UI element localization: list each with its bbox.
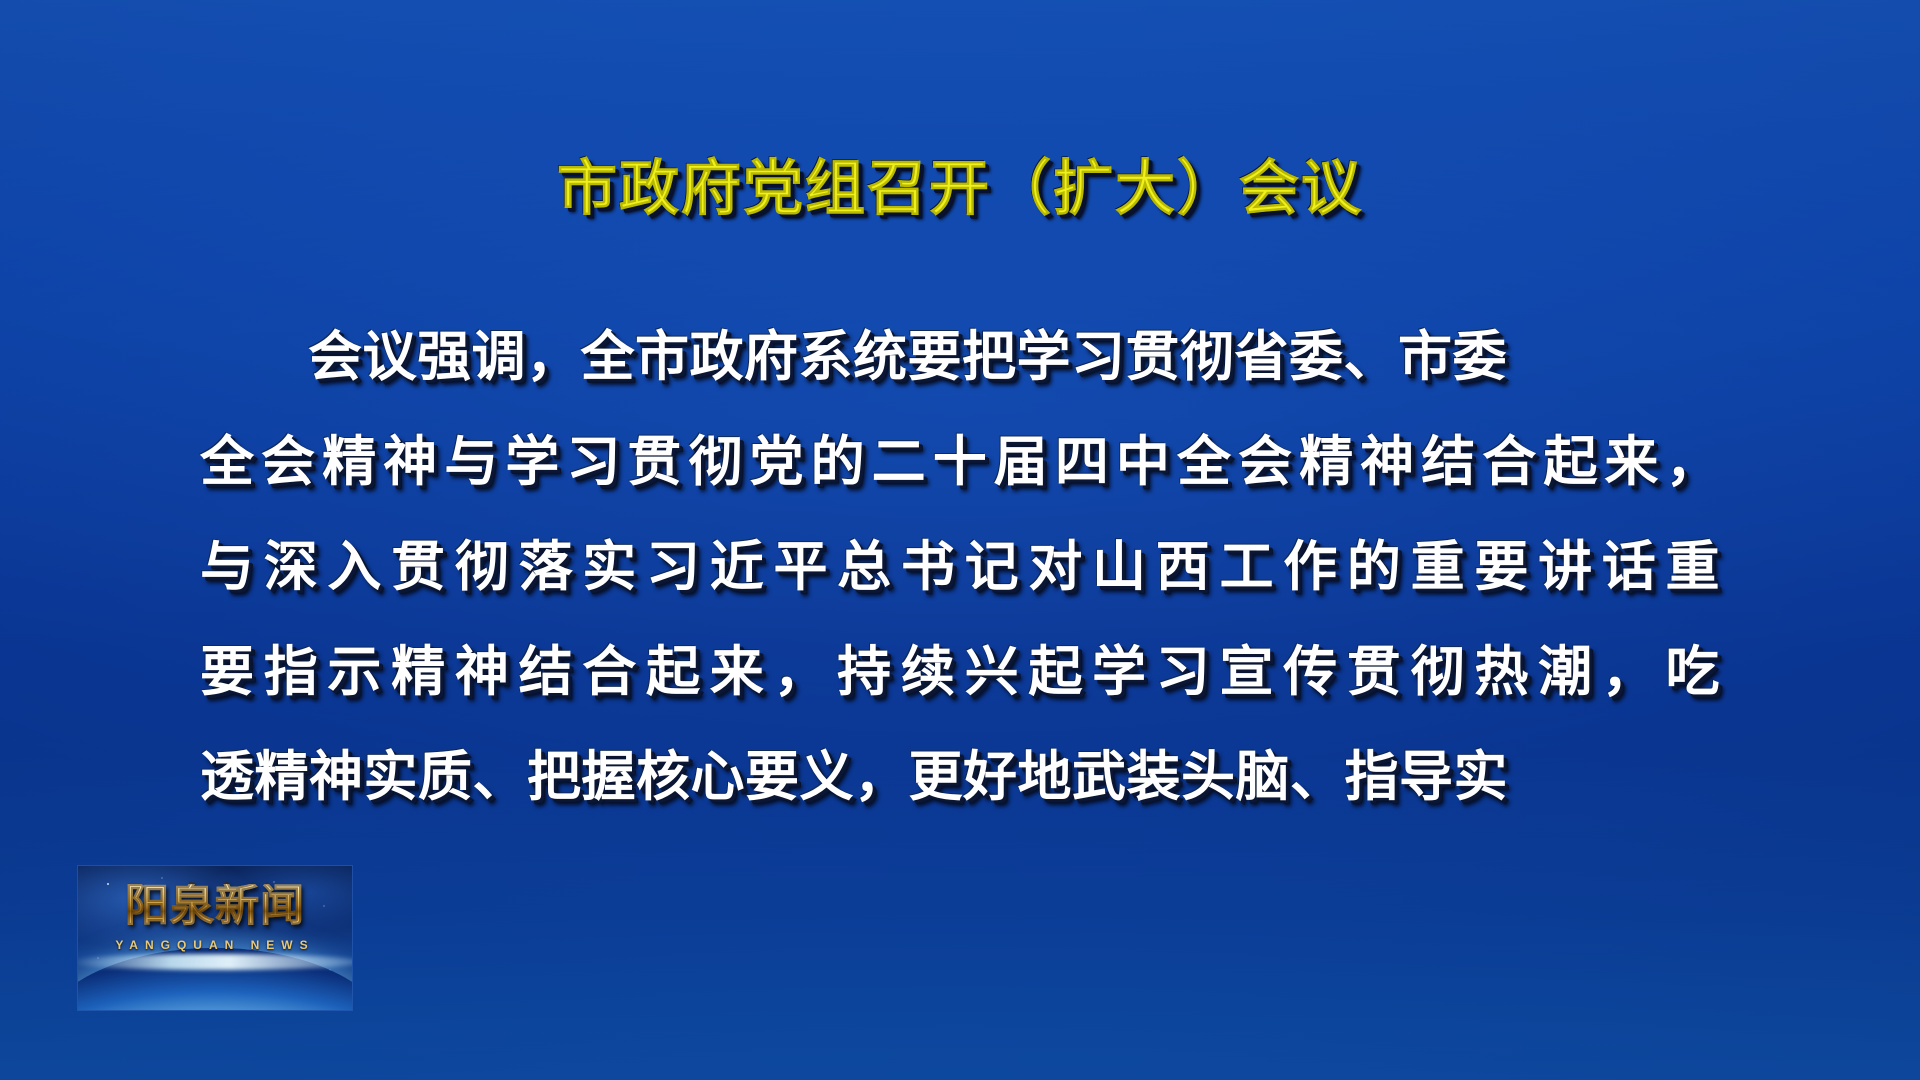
globe-icon bbox=[78, 948, 352, 1010]
station-logo-title: 阳泉新闻 bbox=[78, 884, 352, 928]
page-title: 市政府党组召开（扩大）会议 bbox=[0, 158, 1920, 220]
body-line: 要指示精神结合起来，持续兴起学习宣传贯彻热潮，吃 bbox=[200, 645, 1720, 750]
body-copy-block: 会议强调，全市政府系统要把学习贯彻省委、市委 全会精神与学习贯彻党的二十届四中全… bbox=[200, 330, 1720, 855]
body-line: 与深入贯彻落实习近平总书记对山西工作的重要讲话重 bbox=[200, 540, 1720, 645]
news-lower-third-frame: 市政府党组召开（扩大）会议 会议强调，全市政府系统要把学习贯彻省委、市委 全会精… bbox=[0, 0, 1920, 1080]
body-line: 会议强调，全市政府系统要把学习贯彻省委、市委 bbox=[200, 330, 1720, 435]
station-logo: 阳泉新闻 YANGQUAN NEWS bbox=[78, 866, 352, 1010]
body-line: 透精神实质、把握核心要义，更好地武装头脑、指导实 bbox=[200, 750, 1720, 855]
station-logo-subtitle: YANGQUAN NEWS bbox=[78, 938, 352, 952]
body-line: 全会精神与学习贯彻党的二十届四中全会精神结合起来， bbox=[200, 435, 1720, 540]
